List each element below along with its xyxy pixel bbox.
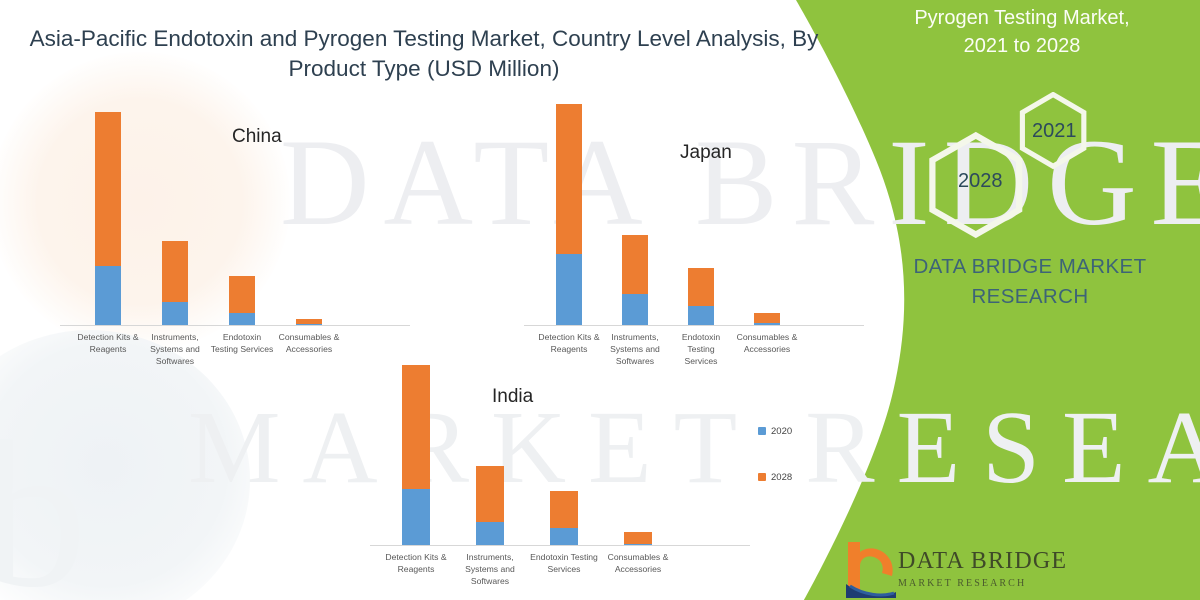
bar-stack[interactable] <box>688 268 714 325</box>
infographic-canvas: b DATA BRIDGE MARKET RESEARCH Asia-Pacif… <box>0 0 1200 600</box>
chart-title-india: India <box>492 386 533 408</box>
hexagon-label-2028: 2028 <box>958 170 1003 193</box>
bar-segment-2020 <box>296 324 322 325</box>
category-label: Endotoxin Testing Services <box>529 552 599 576</box>
bar-stack[interactable] <box>476 466 504 545</box>
legend-label-2028: 2028 <box>771 472 792 483</box>
brand-name: DATA BRIDGE MARKET RESEARCH <box>880 252 1180 311</box>
legend-item-2020[interactable]: 2020 <box>758 424 792 438</box>
x-axis-line <box>370 545 750 546</box>
bar-stack[interactable] <box>754 313 780 325</box>
hexagon-outlines-icon <box>920 92 1120 252</box>
bar-stack[interactable] <box>556 104 582 325</box>
legend-item-2028[interactable]: 2028 <box>758 470 792 484</box>
bar-segment-2028 <box>688 268 714 306</box>
bar-segment-2028 <box>296 319 322 324</box>
bar-segment-2020 <box>162 302 188 325</box>
data-bridge-logo: DATA BRIDGE MARKET RESEARCH <box>840 540 1190 600</box>
right-panel-title: Pyrogen Testing Market, 2021 to 2028 <box>862 4 1182 61</box>
bar-segment-2020 <box>624 544 652 545</box>
bar-stack[interactable] <box>622 235 648 325</box>
chart-title-japan: Japan <box>680 142 732 164</box>
left-edge-logo-watermark: b <box>0 410 87 600</box>
bar-segment-2020 <box>622 294 648 325</box>
legend-swatch-2028 <box>758 473 766 481</box>
page-title: Asia-Pacific Endotoxin and Pyrogen Testi… <box>24 24 824 83</box>
brand-name-line-1: DATA BRIDGE MARKET <box>880 252 1180 282</box>
bar-segment-2028 <box>624 532 652 544</box>
bar-segment-2028 <box>229 276 255 313</box>
bar-segment-2028 <box>754 313 780 323</box>
bar-segment-2028 <box>550 491 578 528</box>
brand-name-line-2: RESEARCH <box>880 282 1180 312</box>
hexagon-badges: 2028 2021 <box>920 92 1120 252</box>
plot-area <box>524 88 864 326</box>
page-title-line-1: Asia-Pacific Endotoxin and Pyrogen Testi… <box>24 24 824 54</box>
bar-segment-2020 <box>402 489 430 545</box>
category-label: Detection Kits & Reagents <box>77 332 140 356</box>
category-label: Consumables & Accessories <box>603 552 673 576</box>
logo-subtext: MARKET RESEARCH <box>898 578 1026 589</box>
category-label: Consumables & Accessories <box>278 332 341 356</box>
chart-japan: Detection Kits & ReagentsInstruments, Sy… <box>524 88 864 386</box>
bar-stack[interactable] <box>296 319 322 325</box>
bar-segment-2028 <box>556 104 582 253</box>
chart-india: Detection Kits & ReagentsInstruments, Sy… <box>370 352 750 600</box>
bar-segment-2028 <box>622 235 648 294</box>
legend-label-2020: 2020 <box>771 426 792 437</box>
page-title-line-2: Product Type (USD Million) <box>24 54 824 84</box>
bar-stack[interactable] <box>229 276 255 325</box>
x-axis-line <box>60 325 410 326</box>
bar-stack[interactable] <box>162 241 188 325</box>
bar-segment-2028 <box>162 241 188 303</box>
plot-area <box>370 352 750 546</box>
category-label: Detection Kits & Reagents <box>381 552 451 576</box>
chart-title-china: China <box>232 126 282 148</box>
bar-segment-2020 <box>550 528 578 545</box>
bar-segment-2020 <box>476 522 504 545</box>
bar-stack[interactable] <box>95 112 121 325</box>
category-label: Instruments, Systems and Softwares <box>455 552 525 588</box>
bar-segment-2028 <box>95 112 121 266</box>
category-label: Endotoxin Testing Services <box>211 332 274 356</box>
data-bridge-mark-icon <box>840 540 896 598</box>
hexagon-label-2021: 2021 <box>1032 120 1077 143</box>
bar-segment-2020 <box>229 313 255 325</box>
right-panel-title-line-1: Pyrogen Testing Market, <box>862 4 1182 32</box>
bar-stack[interactable] <box>402 365 430 545</box>
bar-segment-2020 <box>95 266 121 326</box>
right-panel-title-line-2: 2021 to 2028 <box>862 32 1182 60</box>
chart-legend: 2020 2028 <box>758 424 792 516</box>
category-label: Instruments, Systems and Softwares <box>144 332 207 368</box>
bar-segment-2020 <box>556 254 582 325</box>
bar-stack[interactable] <box>624 532 652 545</box>
bar-segment-2020 <box>688 306 714 325</box>
bar-segment-2020 <box>754 323 780 325</box>
logo-text: DATA BRIDGE <box>898 548 1067 575</box>
bar-stack[interactable] <box>550 491 578 545</box>
bar-segment-2028 <box>476 466 504 521</box>
legend-swatch-2020 <box>758 427 766 435</box>
x-axis-line <box>524 325 864 326</box>
bar-segment-2028 <box>402 365 430 489</box>
